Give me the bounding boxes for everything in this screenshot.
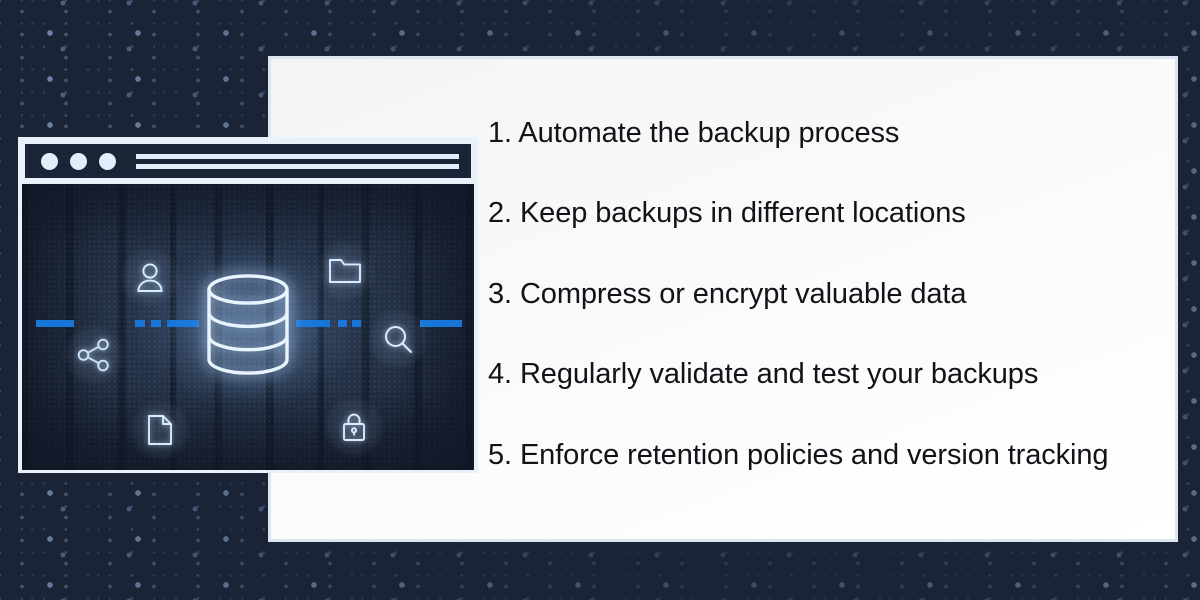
list-item: 5. Enforce retention policies and versio…	[488, 440, 1148, 470]
list-item: 3. Compress or encrypt valuable data	[488, 279, 1148, 309]
user-icon	[119, 246, 181, 308]
infographic-canvas: 1. Automate the backup process 2. Keep b…	[0, 0, 1200, 600]
window-dot-3-icon[interactable]	[99, 153, 116, 170]
lock-icon	[323, 396, 385, 458]
data-flow-segment	[167, 320, 199, 327]
address-bar-line-1	[136, 154, 459, 159]
data-flow-segment	[135, 320, 145, 327]
database-icon	[204, 273, 292, 382]
browser-viewport	[22, 184, 474, 470]
browser-titlebar	[22, 141, 474, 181]
window-dot-1-icon[interactable]	[41, 153, 58, 170]
browser-window-mockup	[18, 137, 478, 473]
address-bar-line-2	[136, 164, 459, 169]
list-item: 2. Keep backups in different locations	[488, 198, 1148, 228]
data-flow-segment	[296, 320, 330, 327]
window-dot-2-icon[interactable]	[70, 153, 87, 170]
folder-icon	[314, 240, 376, 302]
data-flow-segment	[36, 320, 74, 327]
search-icon	[367, 308, 429, 370]
address-bar-placeholder	[136, 149, 459, 174]
share-icon	[63, 324, 125, 386]
data-flow-segment	[151, 320, 161, 327]
window-controls	[41, 153, 116, 170]
list-item: 1. Automate the backup process	[488, 118, 1148, 148]
data-flow-segment	[338, 320, 347, 327]
document-icon	[129, 399, 191, 461]
data-flow-segment	[352, 320, 361, 327]
best-practices-list: 1. Automate the backup process 2. Keep b…	[488, 118, 1148, 470]
list-item: 4. Regularly validate and test your back…	[488, 359, 1148, 389]
